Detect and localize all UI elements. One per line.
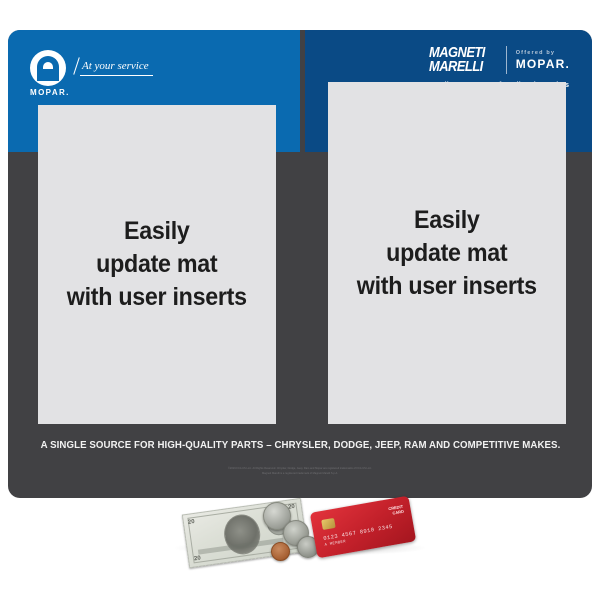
- right-insert-text: Easily update mat with user inserts: [357, 204, 537, 303]
- coin-penny: [271, 542, 290, 561]
- legal-line-2: Magneti Marelli is a registered trademar…: [8, 471, 592, 476]
- mopar-omega-logo: MOPAR.: [30, 50, 68, 96]
- footer-headline: A SINGLE SOURCE FOR HIGH-QUALITY PARTS –…: [40, 439, 560, 451]
- bill-corner-value-bottom-left: 20: [194, 555, 201, 562]
- red-credit-card: CREDIT CARD 0123 4567 8910 2345 A MEMBER: [310, 496, 416, 559]
- at-your-service-tagline: At your service: [82, 60, 149, 72]
- magneti-marelli-row: MAGNETI MARELLI Offered by MOPAR.: [429, 46, 570, 74]
- mopar-wordmark: MOPAR.: [30, 88, 78, 97]
- right-insert-line-3: with user inserts: [357, 270, 537, 303]
- bill-corner-value-top-left: 20: [188, 519, 195, 526]
- counter-mat-scene: MOPAR. At your service MAGNETI MARELLI: [0, 0, 600, 600]
- tagline-tick-decoration: [73, 57, 80, 74]
- right-insert-line-1: Easily: [357, 204, 537, 237]
- mopar-wordmark-small: MOPAR.: [516, 57, 570, 71]
- at-your-service-text: At your service: [82, 60, 149, 72]
- mopar-brand-lockup: MOPAR. At your service: [30, 50, 149, 96]
- footer-headline-strip: A SINGLE SOURCE FOR HIGH-QUALITY PARTS –…: [8, 432, 592, 458]
- left-insert-line-3: with user inserts: [67, 281, 247, 314]
- offered-by-label: Offered by: [516, 50, 570, 56]
- right-insert-line-2: update mat: [357, 237, 537, 270]
- legal-fine-print: ©2019 FCA US LLC. All Rights Reserved. C…: [8, 466, 592, 477]
- magneti-marelli-wordmark: MAGNETI MARELLI: [429, 46, 485, 74]
- card-brand-line-2: CARD: [389, 509, 405, 517]
- marelli-text: MARELLI: [429, 60, 485, 74]
- offered-by-lockup: Offered by MOPAR.: [516, 50, 570, 71]
- left-user-insert[interactable]: Easily update mat with user inserts: [38, 105, 276, 424]
- counter-mat: MOPAR. At your service MAGNETI MARELLI: [8, 30, 592, 498]
- card-holder-name: A MEMBER: [324, 540, 346, 548]
- currency-props-group: 20 20 20 CREDIT CARD 0123 4567 8910 2345…: [185, 498, 415, 560]
- right-user-insert[interactable]: Easily update mat with user inserts: [328, 82, 566, 424]
- left-insert-line-1: Easily: [67, 215, 247, 248]
- left-insert-line-2: update mat: [67, 248, 247, 281]
- card-brand-mark: CREDIT CARD: [388, 504, 404, 517]
- left-insert-text: Easily update mat with user inserts: [67, 215, 247, 314]
- omega-mark-icon: [30, 50, 66, 86]
- card-chip-icon: [321, 518, 336, 530]
- lockup-divider: [506, 46, 507, 74]
